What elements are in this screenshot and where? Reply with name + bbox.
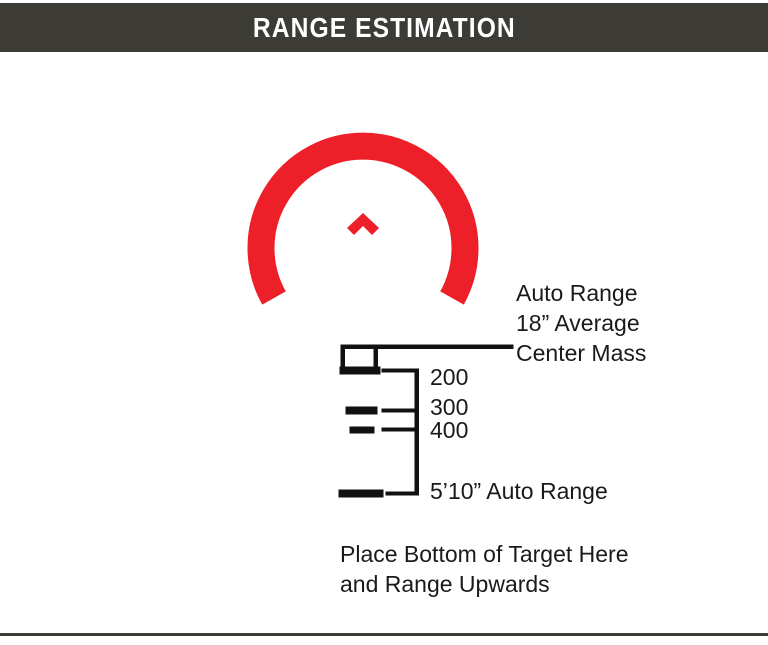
stadia-bar-300 [346,407,377,414]
stadia-bar-bottom [339,490,383,497]
header-bar: RANGE ESTIMATION [0,3,768,52]
range-label-400: 400 [430,419,468,442]
range-estimation-diagram: RANGE ESTIMATION [0,0,768,645]
stadia-bar-200 [340,367,380,374]
stadia-bar-400 [350,427,374,433]
stadia-connector-300 [382,409,418,412]
stadia-connector-400 [382,428,418,431]
page-title: RANGE ESTIMATION [253,14,516,42]
center-mass-leader-line [341,345,513,349]
bottom-auto-range-label: 5’10” Auto Range [430,480,608,503]
instruction-line-2: and Range Upwards [340,569,629,599]
instruction-text: Place Bottom of Target Here and Range Up… [340,539,629,599]
stadia-connector-bottom [386,492,418,495]
callout-line-1: Auto Range [516,278,646,308]
header-bottom-rule [0,52,768,55]
footer-rule [0,633,768,636]
chevron-aiming-point [347,213,379,235]
stadia-vertical-rail [415,369,419,495]
callout-line-2: 18” Average [516,308,646,338]
callout-line-3: Center Mass [516,338,646,368]
range-label-300: 300 [430,396,468,419]
range-label-200: 200 [430,366,468,389]
instruction-line-1: Place Bottom of Target Here [340,539,629,569]
bracket-tick-left [341,345,345,368]
horseshoe-reticle-icon [232,88,494,310]
stadia-connector-200 [382,369,418,372]
auto-range-callout: Auto Range 18” Average Center Mass [516,278,646,368]
bracket-tick-right [374,345,378,368]
